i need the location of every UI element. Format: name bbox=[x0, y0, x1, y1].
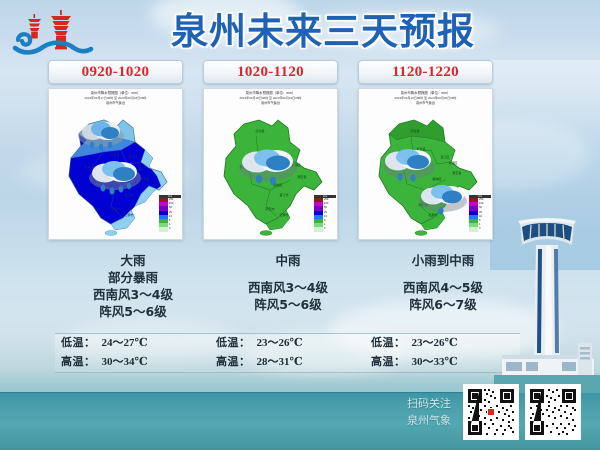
low-temp-value: 23～26℃ bbox=[406, 337, 458, 349]
svg-text:泉港区: 泉港区 bbox=[448, 160, 457, 165]
airport-control-tower-photo bbox=[494, 215, 600, 393]
map-canvas: 德化县 安溪县 永春县 洛江区 泉港区 惠安县 鲤城区 晋江市 南安市 石狮市 bbox=[204, 106, 338, 237]
high-temp-value: 30～33℃ bbox=[406, 356, 458, 368]
temperature-block-day2: 低温：23～26℃ 高温：28～31℃ bbox=[210, 333, 365, 373]
svg-text:洛江区: 洛江区 bbox=[440, 154, 449, 159]
map-header: 泉州市降水预报图（单位：mm） 2023年09月19日08时 至 2023年09… bbox=[359, 89, 492, 106]
low-temp-value: 24～27℃ bbox=[96, 337, 148, 349]
condition-sub-spacer bbox=[213, 269, 363, 279]
temperature-block-day1: 低温：24～27℃ 高温：30～34℃ bbox=[55, 333, 210, 373]
svg-text:惠安县: 惠安县 bbox=[452, 170, 461, 175]
svg-text:晋江市: 晋江市 bbox=[279, 192, 288, 197]
map-legend: mm 250 100 50 25 10 5 1 0 bbox=[469, 195, 491, 232]
date-range-chip-day1: 0920-1020 bbox=[48, 60, 183, 84]
date-range-chip-day2: 1020-1120 bbox=[203, 60, 338, 84]
high-temp-label: 高温： bbox=[371, 356, 406, 368]
low-temp-label: 低温： bbox=[216, 337, 251, 349]
map-header: 泉州市降水预报图（单位：mm） 2023年09月17日08时 至 2023年09… bbox=[49, 89, 182, 106]
svg-text:永春县: 永春县 bbox=[110, 152, 119, 157]
high-temp-label: 高温： bbox=[61, 356, 96, 368]
gust-text: 阵风5～6级 bbox=[213, 296, 363, 313]
low-temp-row: 低温：24～27℃ bbox=[61, 334, 210, 353]
svg-text:南安市: 南安市 bbox=[110, 206, 119, 211]
condition-main: 中雨 bbox=[213, 252, 363, 269]
svg-text:石狮市: 石狮市 bbox=[124, 212, 133, 217]
scan-prompt-line2: 泉州气象 bbox=[398, 412, 460, 429]
svg-text:鲤城区: 鲤城区 bbox=[432, 176, 441, 181]
wind-text: 西南风3～4级 bbox=[213, 279, 363, 296]
precipitation-map-panel-day3: 泉州市降水预报图（单位：mm） 2023年09月19日08时 至 2023年09… bbox=[358, 88, 493, 240]
svg-text:石狮市: 石狮市 bbox=[428, 212, 437, 217]
svg-text:惠安县: 惠安县 bbox=[140, 176, 149, 181]
map-header: 泉州市降水预报图（单位：mm） 2023年09月18日08时 至 2023年09… bbox=[204, 89, 337, 106]
high-temp-row: 高温：30～34℃ bbox=[61, 353, 210, 372]
condition-sub: 部分暴雨 bbox=[58, 269, 208, 286]
svg-text:德化县: 德化县 bbox=[255, 128, 264, 133]
legend-swatch bbox=[469, 227, 478, 231]
low-temp-value: 23～26℃ bbox=[251, 337, 303, 349]
map-legend: mm 250 100 50 25 10 5 1 0 bbox=[159, 195, 181, 232]
date-range-chip-day3: 1120-1220 bbox=[358, 60, 493, 84]
low-temp-label: 低温： bbox=[61, 337, 96, 349]
wechat-qr-code[interactable] bbox=[463, 384, 519, 440]
svg-text:惠安县: 惠安县 bbox=[297, 174, 306, 179]
condition-main: 大雨 bbox=[58, 252, 208, 269]
weibo-qr-code[interactable] bbox=[525, 384, 581, 440]
scan-prompt-line1: 扫码关注 bbox=[398, 395, 460, 412]
quanzhou-city-logo-icon bbox=[12, 8, 94, 60]
scan-prompt: 扫码关注 泉州气象 bbox=[398, 395, 460, 429]
weather-forecast-poster: 泉州未来三天预报 0920-1020 1020-1120 1120-1220 泉… bbox=[0, 0, 600, 450]
legend-label: 0 bbox=[478, 227, 480, 231]
high-temp-label: 高温： bbox=[216, 356, 251, 368]
page-title: 泉州未来三天预报 bbox=[128, 8, 518, 56]
gust-text: 阵风5～6级 bbox=[58, 303, 208, 320]
legend-swatch bbox=[159, 227, 168, 231]
wind-text: 西南风3～4级 bbox=[58, 286, 208, 303]
legend-swatch bbox=[314, 227, 323, 231]
precipitation-map-panel-day2: 泉州市降水预报图（单位：mm） 2023年09月18日08时 至 2023年09… bbox=[203, 88, 338, 240]
svg-text:晋江市: 晋江市 bbox=[124, 192, 133, 197]
map-canvas: 德化县 安溪县 永春县 洛江区 泉港区 惠安县 鲤城区 晋江市 南安市 石狮市 bbox=[49, 106, 183, 237]
high-temp-row: 高温：28～31℃ bbox=[216, 353, 365, 372]
condition-block-day2: 中雨 西南风3～4级 阵风5～6级 bbox=[213, 252, 363, 313]
legend-label: 0 bbox=[323, 227, 325, 231]
map-legend: mm 250 100 50 25 10 5 1 0 bbox=[314, 195, 336, 232]
svg-text:南安市: 南安市 bbox=[265, 206, 274, 211]
condition-block-day1: 大雨 部分暴雨 西南风3～4级 阵风5～6级 bbox=[58, 252, 208, 320]
low-temp-label: 低温： bbox=[371, 337, 406, 349]
map-canvas: 德化县 安溪县 永春县 洛江区 泉港区 惠安县 鲤城区 晋江市 南安市 石狮市 bbox=[359, 106, 493, 237]
legend-label: 0 bbox=[168, 227, 170, 231]
svg-text:安溪县: 安溪县 bbox=[84, 164, 93, 169]
low-temp-row: 低温：23～26℃ bbox=[216, 334, 365, 353]
svg-text:德化县: 德化县 bbox=[410, 128, 419, 133]
high-temp-value: 28～31℃ bbox=[251, 356, 303, 368]
svg-text:石狮市: 石狮市 bbox=[279, 212, 288, 217]
precipitation-map-panel-day1: 泉州市降水预报图（单位：mm） 2023年09月17日08时 至 2023年09… bbox=[48, 88, 183, 240]
svg-text:洛江区: 洛江区 bbox=[128, 154, 137, 159]
high-temp-value: 30～34℃ bbox=[96, 356, 148, 368]
